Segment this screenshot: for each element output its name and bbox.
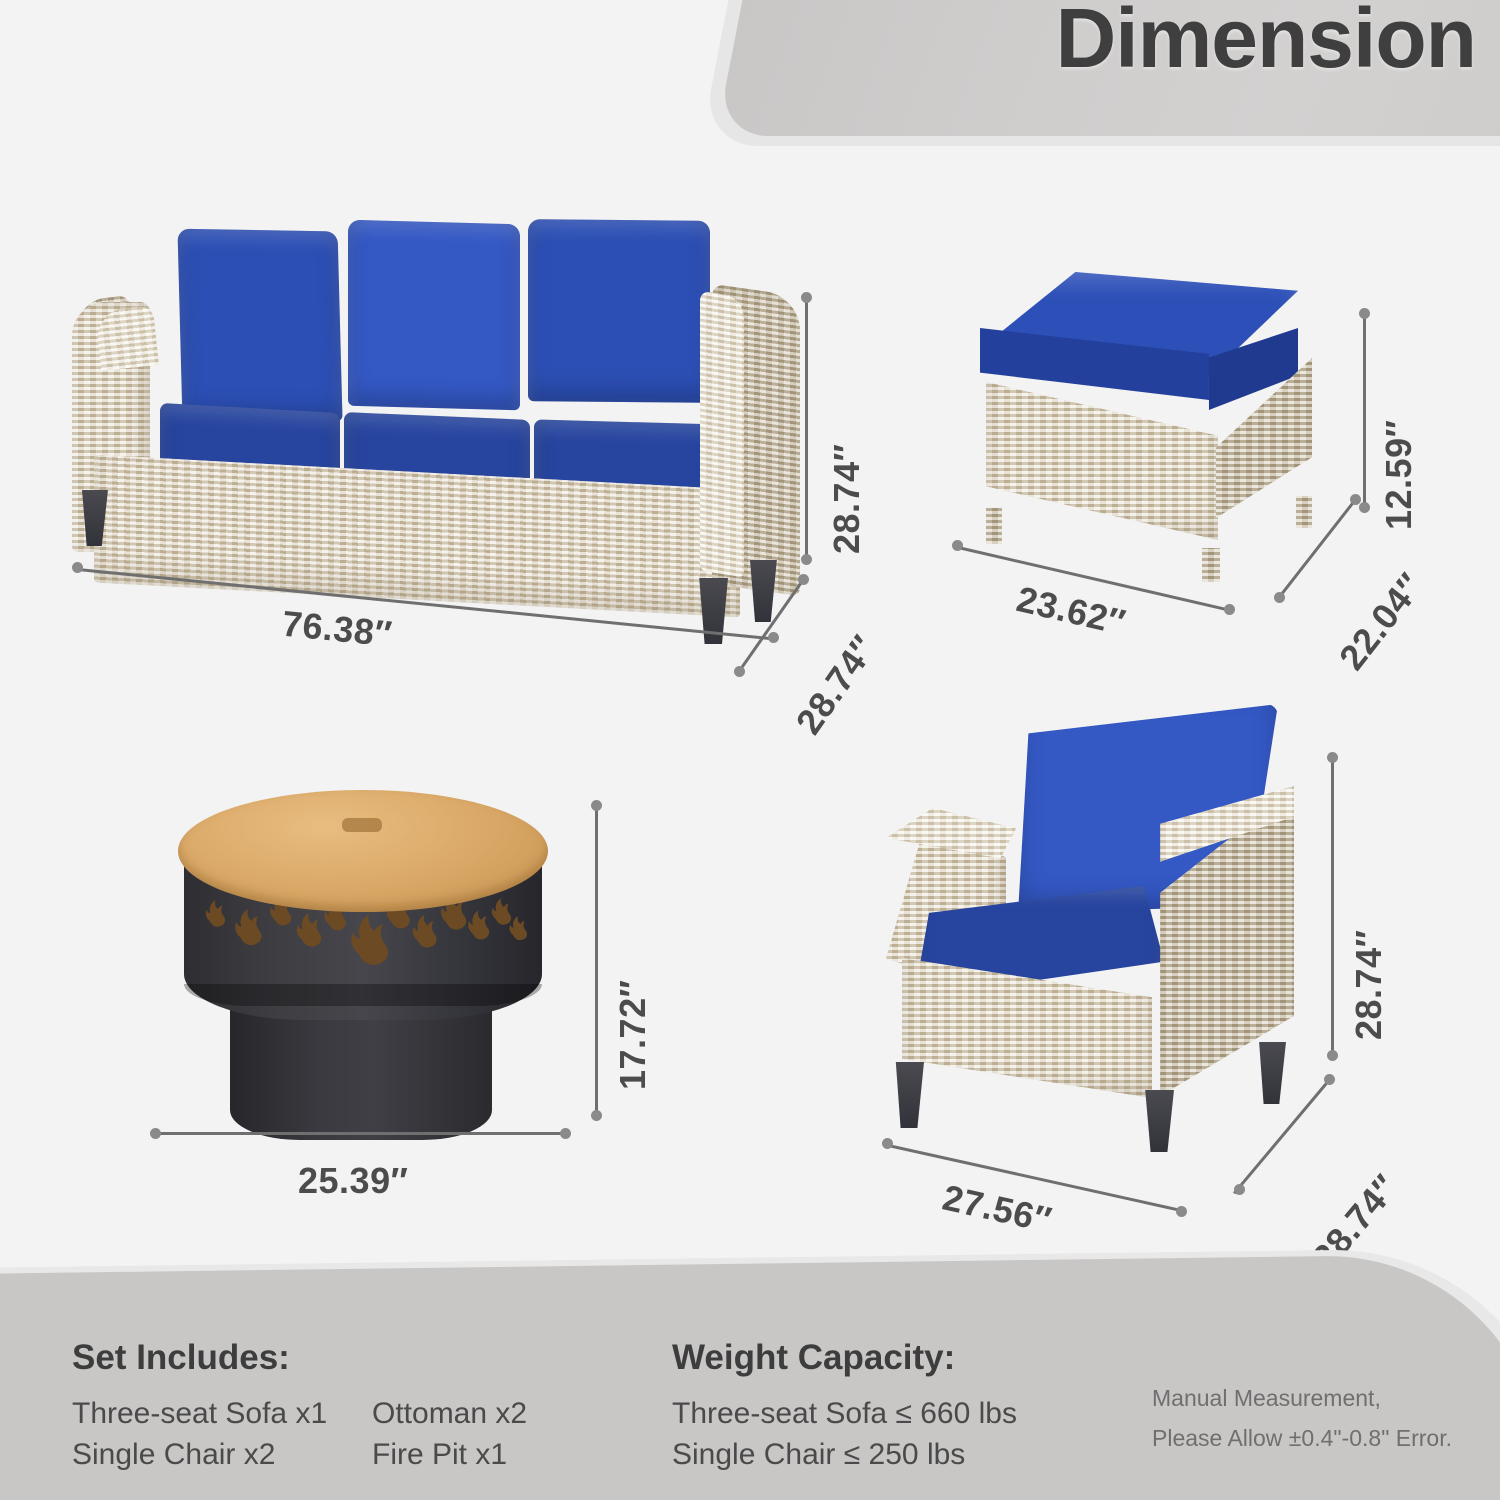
dimension-chair-depth: 28.74″ <box>1186 1080 1416 1250</box>
bottom-panel-content: Set Includes: Three-seat Sofa x1 Single … <box>0 1290 1500 1500</box>
dimension-chair-width-label: 27.56″ <box>939 1177 1056 1242</box>
dimension-firepit-width-label: 25.39″ <box>298 1160 408 1202</box>
dimension-chair-width: 27.56″ <box>880 1136 1210 1246</box>
set-includes-item: Three-seat Sofa x1 <box>72 1394 372 1435</box>
weight-capacity-item: Three-seat Sofa ≤ 660 lbs <box>672 1394 1017 1435</box>
weight-capacity-title: Weight Capacity: <box>672 1338 1017 1378</box>
dimension-sofa-width: 76.38″ <box>70 560 790 690</box>
disclaimer-block: Manual Measurement, Please Allow ±0.4"-0… <box>1152 1378 1452 1459</box>
header-banner: Dimension <box>690 0 1500 150</box>
infographic-canvas: Dimension 76.38″ 28.74″ <box>0 0 1500 1500</box>
disclaimer-line-2: Please Allow ±0.4"-0.8" Error. <box>1152 1418 1452 1458</box>
dimension-sofa-height-label: 28.74″ <box>826 444 868 554</box>
dimension-ottoman-width-label: 23.62″ <box>1013 578 1130 644</box>
dimension-ottoman-depth-label: 22.04″ <box>1331 565 1432 678</box>
dimension-firepit-width: 25.39″ <box>150 1128 580 1228</box>
dimension-ottoman-depth: 22.04″ <box>1236 500 1456 660</box>
dimension-firepit-height-label: 17.72″ <box>612 980 654 1090</box>
set-includes-item: Single Chair x2 <box>72 1435 372 1476</box>
firepit-wood-lid <box>178 790 548 912</box>
dimension-chair-height: 28.74″ <box>1326 752 1436 1072</box>
weight-capacity-item: Single Chair ≤ 250 lbs <box>672 1435 1017 1476</box>
page-title: Dimension <box>800 0 1500 98</box>
dimension-sofa-height: 28.74″ <box>800 292 910 572</box>
set-includes-item: Fire Pit x1 <box>372 1435 527 1476</box>
weight-capacity-block: Weight Capacity: Three-seat Sofa ≤ 660 l… <box>672 1338 1017 1475</box>
dimension-ottoman-width: 23.62″ <box>950 538 1280 648</box>
set-includes-block: Set Includes: Three-seat Sofa x1 Single … <box>72 1338 527 1475</box>
product-image-chair <box>880 690 1310 1140</box>
dimension-sofa-width-label: 76.38″ <box>280 603 394 656</box>
dimension-sofa-depth-label: 28.74″ <box>788 628 886 742</box>
set-includes-title: Set Includes: <box>72 1338 527 1378</box>
disclaimer-line-1: Manual Measurement, <box>1152 1378 1452 1418</box>
set-includes-column-2: Ottoman x2 Fire Pit x1 <box>372 1394 527 1475</box>
set-includes-item: Ottoman x2 <box>372 1394 527 1435</box>
product-image-firepit <box>160 770 560 1140</box>
dimension-sofa-depth: 28.74″ <box>718 562 888 722</box>
dimension-firepit-height: 17.72″ <box>590 800 700 1130</box>
dimension-chair-height-label: 28.74″ <box>1348 930 1390 1040</box>
set-includes-column-1: Three-seat Sofa x1 Single Chair x2 <box>72 1394 372 1475</box>
